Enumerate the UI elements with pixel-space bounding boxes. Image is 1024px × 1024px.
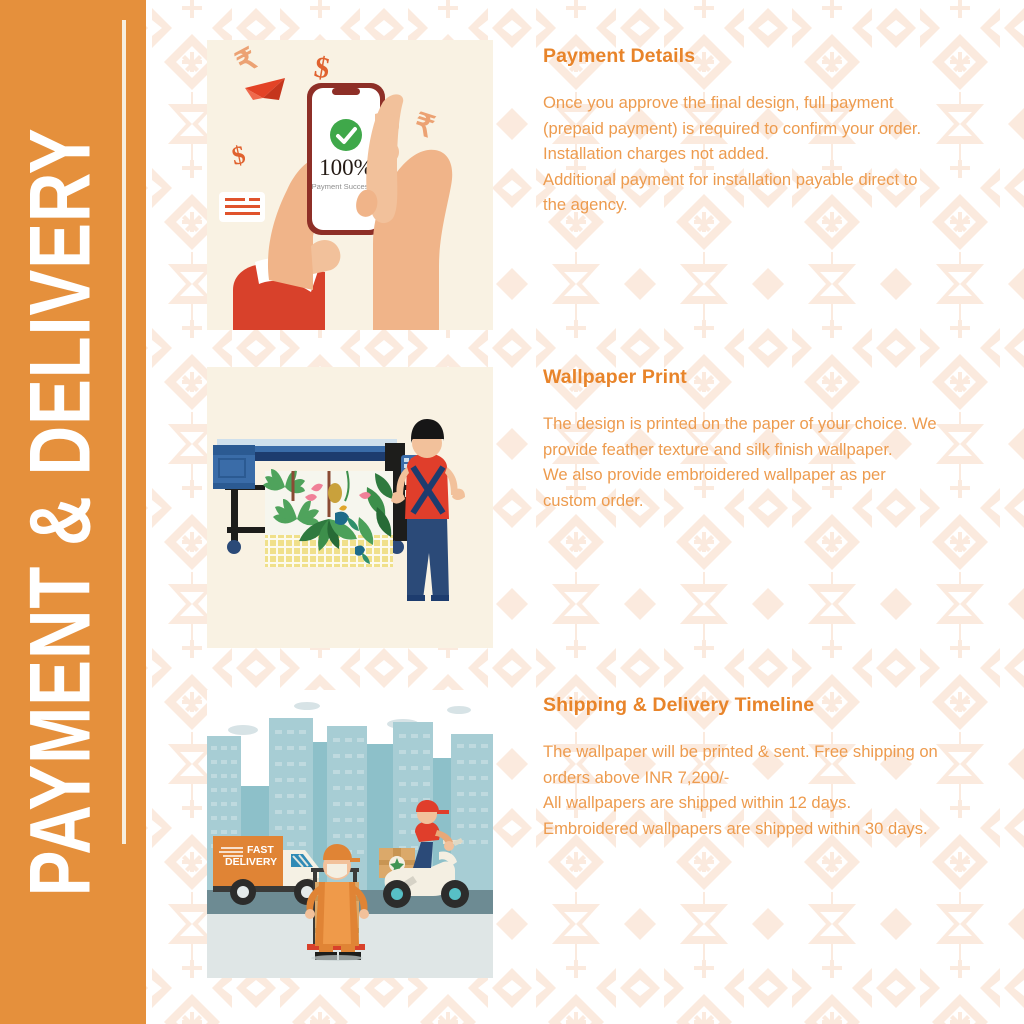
- truck-label-line2: DELIVERY: [225, 856, 277, 868]
- sidebar-divider-rule: [122, 20, 126, 844]
- section-heading: Payment Details: [543, 45, 953, 68]
- truck-label-line1: FAST: [247, 844, 274, 856]
- sidebar-title-wrap: PAYMENT & DELIVERY: [0, 0, 122, 1024]
- section-shipping-delivery-timeline: Shipping & Delivery Timeline The wallpap…: [543, 694, 955, 841]
- section-body: The wallpaper will be printed & sent. Fr…: [543, 739, 947, 841]
- page-title: PAYMENT & DELIVERY: [12, 32, 111, 993]
- payment-success-illustration: ₹ $ ₹ $: [207, 40, 493, 330]
- tropical-botanical-wallpaper: [263, 469, 393, 567]
- section-heading: Shipping & Delivery Timeline: [543, 694, 955, 717]
- large-format-printer-illustration: [207, 367, 493, 648]
- phone-percent-label: 100%: [319, 155, 373, 180]
- section-wallpaper-print: Wallpaper Print The design is printed on…: [543, 366, 953, 513]
- section-body: Once you approve the final design, full …: [543, 90, 943, 218]
- face-mask-icon: [327, 864, 347, 878]
- section-body: The design is printed on the paper of yo…: [543, 411, 943, 513]
- poster-root: PAYMENT & DELIVERY ₹ $ ₹ $: [0, 0, 1024, 1024]
- section-heading: Wallpaper Print: [543, 366, 953, 389]
- city-delivery-illustration: FAST DELIVERY: [207, 690, 493, 978]
- section-payment-details: Payment Details Once you approve the fin…: [543, 45, 953, 218]
- check-circle-icon: [330, 119, 362, 151]
- truck-label: FAST DELIVERY: [219, 844, 277, 868]
- receipt-card-icon: [219, 192, 265, 222]
- page-title-text: PAYMENT & DELIVERY: [12, 128, 111, 897]
